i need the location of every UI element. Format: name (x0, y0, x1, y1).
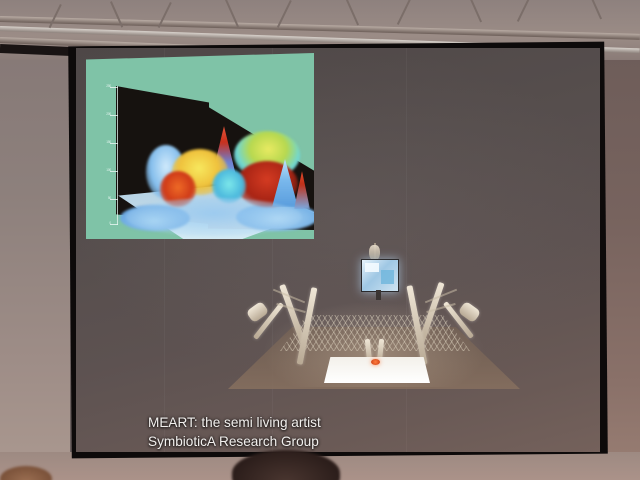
installation-photograph (228, 243, 520, 389)
projection-screen: 250 200 150 100 50 0 (76, 48, 600, 452)
surface-plot: 250 200 150 100 50 0 (86, 53, 314, 239)
crt-monitor (361, 259, 399, 292)
axis-tick (110, 171, 118, 172)
y-tick-label: 200 (89, 113, 111, 116)
monitor-window-icon (365, 263, 379, 272)
z-axis-line (117, 86, 118, 225)
y-tick-label: 250 (89, 85, 111, 88)
axis-tick (110, 143, 118, 144)
y-tick-label: 50 (89, 197, 111, 200)
axis-tick (110, 115, 118, 116)
photograph-scene: 250 200 150 100 50 0 (0, 0, 640, 480)
monitor-stand (376, 290, 381, 300)
surface-plot-panel: 250 200 150 100 50 0 (86, 53, 314, 239)
marker-pen (371, 359, 380, 365)
caption-line-venue: Australian Centre for the Moving Image, … (148, 451, 478, 452)
y-tick-label: 100 (89, 169, 111, 172)
surface-front-apron (126, 198, 302, 236)
y-tick-label: 150 (89, 141, 111, 144)
room-wall-left (0, 0, 70, 480)
monitor-panel-icon (381, 270, 394, 284)
axis-tick (110, 224, 118, 225)
axis-tick (110, 87, 118, 88)
caption-line-title: MEART: the semi living artist (148, 414, 478, 433)
axis-tick (110, 199, 118, 200)
caption-line-group: SymbioticA Research Group (148, 433, 478, 452)
slide-caption: MEART: the semi living artist SymbioticA… (148, 414, 478, 452)
presentation-slide: 250 200 150 100 50 0 (76, 48, 600, 452)
y-tick-label: 0 (89, 222, 111, 225)
